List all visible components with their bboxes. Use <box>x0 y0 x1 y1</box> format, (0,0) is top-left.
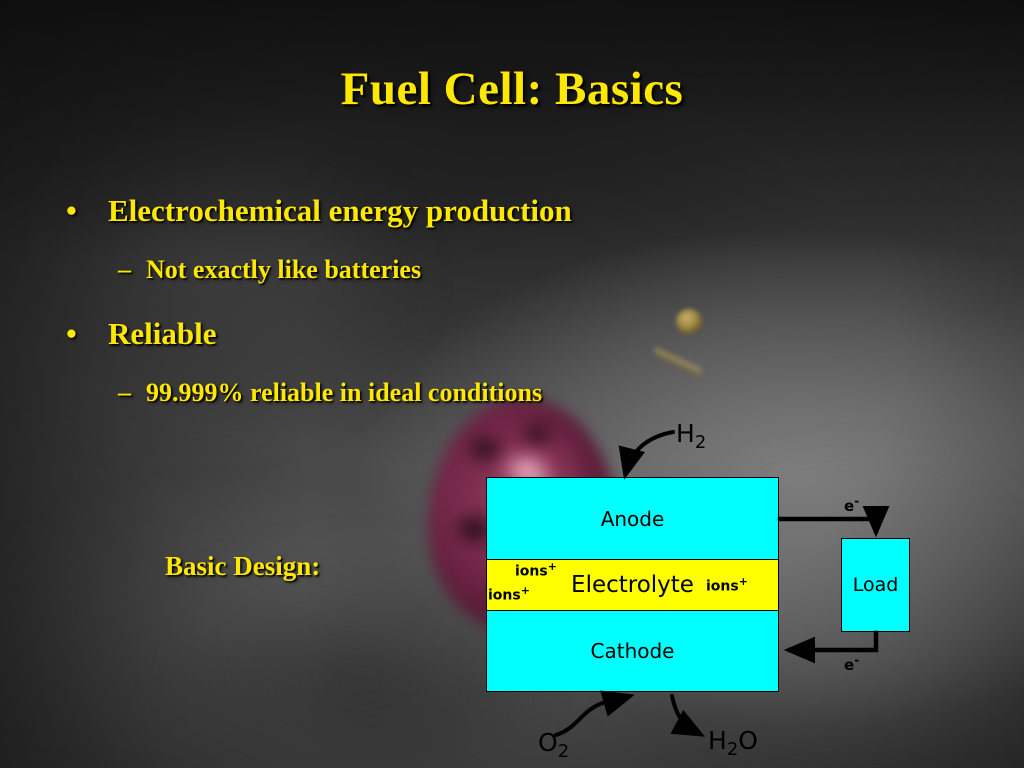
electron-label-bottom: e- <box>844 653 859 674</box>
electron-label-top: e- <box>844 494 859 515</box>
water-label: H2O <box>708 726 758 760</box>
arrow-water-out <box>672 696 698 733</box>
wire-anode-to-load <box>780 519 876 531</box>
oxygen-label: O2 <box>538 728 569 762</box>
slide-canvas: Fuel Cell: Basics • Electrochemical ener… <box>0 0 1024 768</box>
circuit-wires <box>0 0 1024 768</box>
wire-load-to-cathode <box>790 633 876 650</box>
arrow-hydrogen-in <box>626 432 673 472</box>
fuel-cell-diagram: Anode Electrolyte Cathode ions+ ions+ io… <box>0 0 1024 768</box>
hydrogen-label: H2 <box>676 419 706 453</box>
